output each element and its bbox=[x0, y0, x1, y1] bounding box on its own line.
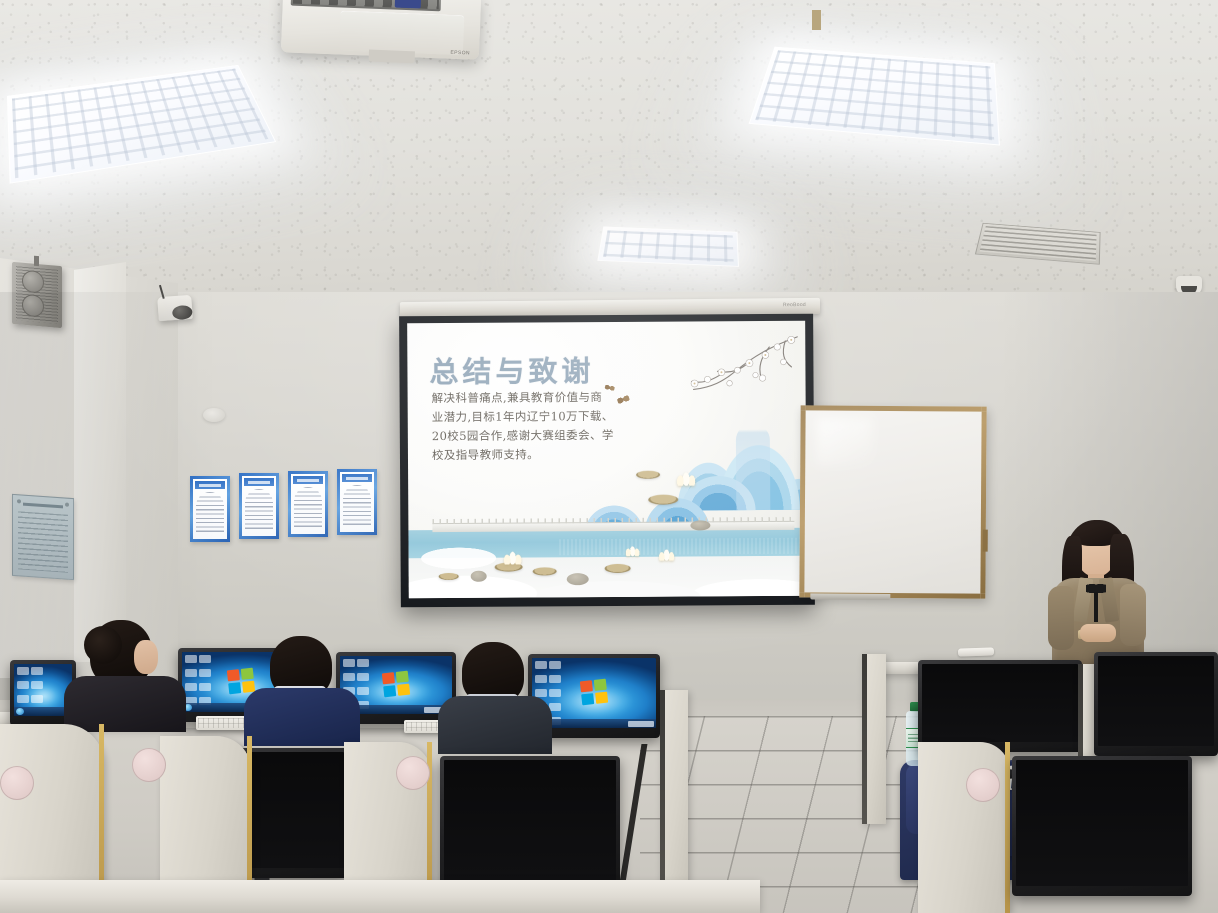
audience-3-torso bbox=[438, 696, 552, 754]
poster-1-header bbox=[195, 481, 225, 489]
audience-1-face bbox=[134, 640, 158, 674]
slide-body-text: 解决科普痛点,兼具教育价值与商业潜力,目标1年内辽宁10万下载、20校5园合作,… bbox=[432, 388, 614, 465]
start-button-icon[interactable] bbox=[16, 708, 24, 715]
monitor-6-screen bbox=[1098, 656, 1214, 746]
wall-poster-1 bbox=[190, 476, 230, 542]
screen-bracket-right bbox=[812, 10, 821, 30]
poster-1-text bbox=[196, 492, 224, 535]
audience-member-1 bbox=[62, 620, 192, 725]
plaque-screw-top-left-icon bbox=[17, 499, 21, 503]
monitor-9[interactable] bbox=[1012, 756, 1192, 896]
partition-pad-icon-3 bbox=[966, 768, 1000, 802]
monitor-8[interactable] bbox=[440, 756, 620, 892]
lotus-flower-icon bbox=[503, 551, 521, 565]
audience-2-torso bbox=[244, 688, 360, 746]
whiteboard-hinge bbox=[983, 530, 988, 552]
ceiling-tile-texture bbox=[0, 0, 1218, 330]
partition-pad-icon-1 bbox=[132, 748, 166, 782]
pagoda-tower-icon bbox=[736, 424, 771, 510]
whiteboard bbox=[799, 405, 986, 598]
dome-camera-wall-icon bbox=[157, 295, 193, 321]
monitor-8-screen bbox=[444, 760, 616, 882]
troffer-light-back-icon bbox=[597, 226, 739, 266]
smoke-detector-icon bbox=[203, 408, 225, 422]
poster-2-header bbox=[244, 478, 274, 486]
wall-poster-2 bbox=[239, 473, 279, 539]
windows-logo-icon bbox=[382, 671, 410, 698]
presentation-slide: 总结与致谢 解决科普痛点,兼具教育价值与商业潜力,目标1年内辽宁10万下载、20… bbox=[407, 321, 807, 598]
slide-title: 总结与致谢 bbox=[429, 348, 594, 391]
ceiling-projector: EPSON bbox=[281, 0, 481, 60]
poster-4-header bbox=[342, 474, 372, 482]
regulations-plaque bbox=[12, 494, 74, 580]
ceiling: EPSON bbox=[0, 0, 1218, 330]
audience-member-2 bbox=[244, 636, 362, 736]
lotus-flower-icon bbox=[659, 549, 675, 561]
audience-1-torso bbox=[64, 676, 186, 732]
screen-brand-label: ReoBood bbox=[783, 302, 806, 308]
desktop-icon-grid-4[interactable] bbox=[17, 667, 43, 702]
monitor-8-bezel bbox=[440, 756, 620, 892]
classroom-photo-scene: EPSON ReoBood bbox=[0, 0, 1218, 913]
stone-icon bbox=[471, 571, 487, 582]
partition-gold-trim bbox=[1005, 742, 1010, 913]
speaker-bracket bbox=[34, 256, 39, 266]
audience-member-3 bbox=[438, 642, 554, 742]
lotus-flower-icon bbox=[676, 471, 695, 486]
poster-3-text bbox=[294, 487, 322, 530]
desk-partition-7 bbox=[918, 742, 1010, 913]
wall-poster-4 bbox=[337, 469, 377, 535]
wall-column bbox=[74, 262, 126, 662]
stone-icon bbox=[567, 573, 589, 585]
projector-body-panel bbox=[339, 10, 464, 55]
projector-mount bbox=[369, 50, 415, 64]
stone-icon bbox=[690, 520, 710, 530]
plaque-screw-top-right-icon bbox=[65, 503, 69, 507]
wall-poster-3 bbox=[288, 471, 328, 537]
system-tray-3[interactable] bbox=[628, 721, 654, 727]
monitor-9-screen bbox=[1016, 760, 1188, 886]
projection-screen: 总结与致谢 解决科普痛点,兼具教育价值与商业潜力,目标1年内辽宁10万下载、20… bbox=[399, 314, 815, 608]
monitor-6-bezel bbox=[1094, 652, 1218, 756]
monitor-6[interactable] bbox=[1094, 652, 1218, 756]
projector-brand-label: EPSON bbox=[450, 50, 470, 57]
projector-vga-port-icon bbox=[395, 0, 421, 9]
presenter-hands bbox=[1080, 624, 1116, 642]
desk-partition-5 bbox=[862, 654, 886, 824]
presenter-tie-band bbox=[1094, 592, 1098, 622]
partition-pad-icon-2 bbox=[396, 756, 430, 790]
windows-logo-icon bbox=[580, 679, 608, 706]
butterfly-icon bbox=[617, 394, 631, 406]
lotus-flower-icon bbox=[625, 545, 639, 556]
poster-3-header bbox=[293, 476, 323, 484]
monitor-5[interactable] bbox=[918, 660, 1082, 752]
presenter-arm-left bbox=[1048, 586, 1074, 650]
poster-4-text bbox=[343, 485, 371, 528]
partition-edge bbox=[862, 654, 867, 824]
plaque-text-lines bbox=[18, 511, 68, 572]
wall-speaker-icon bbox=[12, 262, 62, 328]
poster-2-text bbox=[245, 489, 273, 532]
audience-1-hair-bun bbox=[84, 626, 122, 664]
monitor-5-screen bbox=[922, 664, 1078, 742]
desk-foreground bbox=[0, 880, 760, 913]
monitor-9-bezel bbox=[1012, 756, 1192, 896]
whiteboard-glare bbox=[816, 418, 873, 466]
plaque-title-bar bbox=[23, 503, 63, 509]
presentation-remote bbox=[958, 647, 994, 656]
whiteboard-marker-tray bbox=[810, 593, 890, 600]
presenter-arm-right bbox=[1120, 584, 1146, 646]
monitor-5-bezel bbox=[918, 660, 1082, 752]
partition-pad-icon-4 bbox=[0, 766, 34, 800]
